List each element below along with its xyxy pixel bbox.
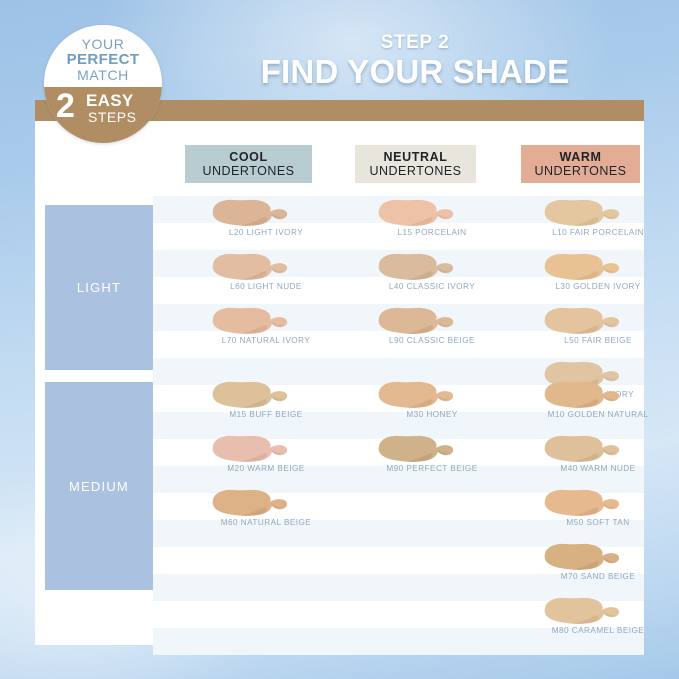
shade-name-label: L70 NATURAL IVORY xyxy=(194,336,338,345)
shade-name-label: L50 FAIR BEIGE xyxy=(526,336,670,345)
foundation-smear-icon xyxy=(372,198,456,228)
shade-swatch-cell[interactable]: M80 CARAMEL BEIGE xyxy=(538,596,658,642)
shade-name-label: M20 WARM BEIGE xyxy=(194,464,338,473)
perfect-match-seal-badge: YOUR PERFECT MATCH 2 EASY STEPS xyxy=(44,25,162,143)
foundation-smear-shape xyxy=(372,252,456,282)
foundation-smear-icon xyxy=(538,488,622,518)
tone-block-light: LIGHT xyxy=(45,205,153,370)
foundation-smear-icon xyxy=(538,542,622,572)
foundation-smear-shape xyxy=(372,434,456,464)
shade-name-label: M15 BUFF BEIGE xyxy=(194,410,338,419)
shade-swatch-cell[interactable]: L20 LIGHT IVORY xyxy=(206,198,326,244)
tone-block-medium: MEDIUM xyxy=(45,382,153,590)
foundation-smear-icon xyxy=(538,198,622,228)
column-header-neutral: NEUTRAL UNDERTONES xyxy=(355,145,476,183)
column-header-cool: COOL UNDERTONES xyxy=(185,145,312,183)
shade-swatch-cell[interactable]: M90 PERFECT BEIGE xyxy=(372,434,492,480)
page-title: FIND YOUR SHADE xyxy=(200,53,630,91)
shade-name-label: M10 GOLDEN NATURAL xyxy=(526,410,670,419)
shade-finder-infographic: STEP 2 FIND YOUR SHADE YOUR PERFECT MATC… xyxy=(0,0,679,679)
seal-step-number: 2 xyxy=(56,89,75,123)
foundation-smear-shape xyxy=(372,198,456,228)
foundation-smear-shape xyxy=(206,488,290,518)
shade-name-label: M50 SOFT TAN xyxy=(526,518,670,527)
foundation-smear-icon xyxy=(538,306,622,336)
foundation-smear-shape xyxy=(538,198,622,228)
foundation-smear-shape xyxy=(538,434,622,464)
foundation-smear-shape xyxy=(206,252,290,282)
foundation-smear-shape xyxy=(538,252,622,282)
foundation-smear-icon xyxy=(538,596,622,626)
shade-swatch-cell[interactable]: L15 PORCELAIN xyxy=(372,198,492,244)
foundation-smear-shape xyxy=(206,380,290,410)
foundation-smear-shape xyxy=(206,434,290,464)
shade-name-label: L60 LIGHT NUDE xyxy=(194,282,338,291)
seal-line-steps: STEPS xyxy=(88,109,136,125)
foundation-smear-icon xyxy=(206,380,290,410)
shade-name-label: M90 PERFECT BEIGE xyxy=(360,464,504,473)
column-header-cool-subtitle: UNDERTONES xyxy=(202,164,294,178)
foundation-smear-icon xyxy=(206,434,290,464)
shade-swatch-cell[interactable]: L90 CLASSIC BEIGE xyxy=(372,306,492,352)
foundation-smear-shape xyxy=(372,306,456,336)
step-label: STEP 2 xyxy=(200,32,630,54)
shade-swatch-cell[interactable]: M60 NATURAL BEIGE xyxy=(206,488,326,534)
foundation-smear-icon xyxy=(206,488,290,518)
foundation-smear-shape xyxy=(206,306,290,336)
shade-swatch-cell[interactable]: L60 LIGHT NUDE xyxy=(206,252,326,298)
shade-name-label: L15 PORCELAIN xyxy=(360,228,504,237)
foundation-smear-shape xyxy=(538,542,622,572)
column-header-warm-subtitle: UNDERTONES xyxy=(534,164,626,178)
foundation-smear-shape xyxy=(538,488,622,518)
foundation-smear-icon xyxy=(372,306,456,336)
seal-line-easy: EASY xyxy=(86,91,134,111)
foundation-smear-icon xyxy=(372,380,456,410)
foundation-smear-icon xyxy=(538,434,622,464)
foundation-smear-shape xyxy=(206,198,290,228)
foundation-smear-shape xyxy=(538,306,622,336)
shade-name-label: M40 WARM NUDE xyxy=(526,464,670,473)
foundation-smear-icon xyxy=(206,198,290,228)
shade-name-label: L20 LIGHT IVORY xyxy=(194,228,338,237)
column-header-cool-title: COOL xyxy=(229,151,268,164)
column-header-warm-title: WARM xyxy=(560,151,602,164)
seal-line-your: YOUR xyxy=(44,36,162,52)
foundation-smear-icon xyxy=(538,252,622,282)
shade-swatch-cell[interactable]: L50 FAIR BEIGE xyxy=(538,306,658,352)
shade-swatch-cell[interactable]: M50 SOFT TAN xyxy=(538,488,658,534)
foundation-smear-shape xyxy=(538,380,622,410)
shade-swatch-cell[interactable]: M15 BUFF BEIGE xyxy=(206,380,326,426)
foundation-smear-icon xyxy=(372,434,456,464)
shade-swatch-cell[interactable]: M20 WARM BEIGE xyxy=(206,434,326,480)
shade-swatch-cell[interactable]: L30 GOLDEN IVORY xyxy=(538,252,658,298)
shade-swatch-cell[interactable]: M10 GOLDEN NATURAL xyxy=(538,380,658,426)
seal-line-perfect: PERFECT xyxy=(44,51,162,68)
seal-line-match: MATCH xyxy=(44,67,162,83)
shade-name-label: M30 HONEY xyxy=(360,410,504,419)
column-header-neutral-subtitle: UNDERTONES xyxy=(369,164,461,178)
foundation-smear-shape xyxy=(372,380,456,410)
shade-name-label: L40 CLASSIC IVORY xyxy=(360,282,504,291)
foundation-smear-icon xyxy=(206,306,290,336)
shade-name-label: M70 SAND BEIGE xyxy=(526,572,670,581)
shade-swatch-cell[interactable]: L40 CLASSIC IVORY xyxy=(372,252,492,298)
column-header-neutral-title: NEUTRAL xyxy=(384,151,448,164)
shade-swatch-cell[interactable]: M70 SAND BEIGE xyxy=(538,542,658,588)
shade-name-label: L30 GOLDEN IVORY xyxy=(526,282,670,291)
shade-name-label: M80 CARAMEL BEIGE xyxy=(526,626,670,635)
foundation-smear-icon xyxy=(538,380,622,410)
shade-name-label: L10 FAIR PORCELAIN xyxy=(526,228,670,237)
shade-name-label: M60 NATURAL BEIGE xyxy=(194,518,338,527)
shade-swatch-cell[interactable]: M30 HONEY xyxy=(372,380,492,426)
shade-swatch-cell[interactable]: M40 WARM NUDE xyxy=(538,434,658,480)
shade-swatch-cell[interactable]: L10 FAIR PORCELAIN xyxy=(538,198,658,244)
foundation-smear-icon xyxy=(206,252,290,282)
shade-name-label: L90 CLASSIC BEIGE xyxy=(360,336,504,345)
shade-swatch-cell[interactable]: L70 NATURAL IVORY xyxy=(206,306,326,352)
column-header-warm: WARM UNDERTONES xyxy=(521,145,640,183)
foundation-smear-shape xyxy=(538,596,622,626)
foundation-smear-icon xyxy=(372,252,456,282)
